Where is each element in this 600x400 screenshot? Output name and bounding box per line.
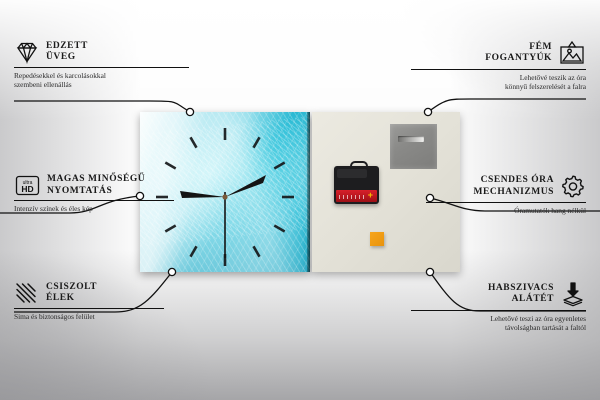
foam-pad-icon xyxy=(560,281,586,307)
callout-csendes-ora-mechanizmus[interactable]: CSENDES ÓRA MECHANIZMUS Óramutatók hang … xyxy=(426,174,586,215)
minute-hand xyxy=(225,175,266,197)
svg-text:HD: HD xyxy=(21,184,33,194)
callout-subtitle-line2: szembeni ellenállás xyxy=(14,80,189,89)
battery-label xyxy=(339,195,365,199)
callout-subtitle-line1: Sima és biztonságos felület xyxy=(14,312,164,321)
callout-title-line2: NYOMTATÁS xyxy=(47,186,145,198)
ultra-hd-icon: ultra HD xyxy=(14,174,41,197)
callout-magas-minosegu-nyomtatas[interactable]: ultra HD MAGAS MINŐSÉGŰ NYOMTATÁS Intenz… xyxy=(14,174,174,213)
background-vignette-bottom-left xyxy=(0,250,220,400)
beveled-edge-icon xyxy=(14,281,40,305)
callout-title-block: CSENDES ÓRA MECHANIZMUS xyxy=(474,175,554,198)
product-image: + xyxy=(140,112,460,272)
callout-divider xyxy=(14,67,189,68)
callout-title-block: MAGAS MINŐSÉGŰ NYOMTATÁS xyxy=(47,174,145,197)
clock-hands xyxy=(180,175,266,258)
callout-title-line1: EDZETT xyxy=(46,41,88,53)
infographic-canvas: + xyxy=(0,0,600,400)
battery: + xyxy=(336,190,377,202)
callout-subtitle: Repedésekkel és karcolásokkal szembeni e… xyxy=(14,71,189,89)
callout-divider xyxy=(14,200,174,201)
glass-edge xyxy=(307,112,310,272)
callout-subtitle-line2: távolságban tartását a faltól xyxy=(411,323,586,332)
callout-title-line1: HABSZIVACS xyxy=(488,283,554,295)
picture-hanger-icon xyxy=(558,40,586,66)
callout-header: CSENDES ÓRA MECHANIZMUS xyxy=(426,174,586,199)
quartz-mechanism: + xyxy=(334,166,379,204)
callout-title-block: HABSZIVACS ALÁTÉT xyxy=(488,283,554,306)
callout-header: EDZETT ÜVEG xyxy=(14,40,189,64)
callout-divider xyxy=(14,308,164,309)
callout-header: CSISZOLT ÉLEK xyxy=(14,281,164,305)
callout-title-block: FÉM FOGANTYÚK xyxy=(485,42,552,65)
callout-subtitle-line2: könnyű felszerelését a falra xyxy=(411,82,586,91)
callout-title-line2: FOGANTYÚK xyxy=(485,53,552,65)
callout-title-line2: MECHANIZMUS xyxy=(474,187,554,199)
foam-spacer xyxy=(370,232,384,246)
callout-subtitle: Lehetővé teszik az óra könnyű felszerelé… xyxy=(411,73,586,91)
callout-subtitle: Lehetővé teszi az óra egyenletes távolsá… xyxy=(411,314,586,332)
callout-header: ultra HD MAGAS MINŐSÉGŰ NYOMTATÁS xyxy=(14,174,174,197)
callout-title-block: EDZETT ÜVEG xyxy=(46,41,88,64)
callout-subtitle: Sima és biztonságos felület xyxy=(14,312,164,321)
callout-title-line2: ÉLEK xyxy=(46,293,97,305)
callout-divider xyxy=(411,69,586,70)
callout-title-line1: CSENDES ÓRA xyxy=(481,175,554,187)
callout-subtitle-line1: Lehetővé teszi az óra egyenletes xyxy=(411,314,586,323)
callout-header: FÉM FOGANTYÚK xyxy=(411,40,586,66)
battery-plus-label: + xyxy=(368,191,373,200)
callout-csiszolt-elek[interactable]: CSISZOLT ÉLEK Sima és biztonságos felüle… xyxy=(14,281,164,321)
callout-title-block: CSISZOLT ÉLEK xyxy=(46,282,97,305)
callout-subtitle-line1: Intenzív színek és éles kép xyxy=(14,204,174,213)
callout-title-line1: MAGAS MINŐSÉGŰ xyxy=(47,174,145,186)
callout-subtitle-line1: Lehetővé teszik az óra xyxy=(411,73,586,82)
diamond-icon xyxy=(14,40,40,64)
gear-icon xyxy=(560,174,586,199)
hour-hand xyxy=(180,191,225,198)
clock-center-cap xyxy=(222,194,227,199)
callout-subtitle-line1: Repedésekkel és karcolásokkal xyxy=(14,71,189,80)
mechanism-housing xyxy=(337,169,367,178)
callout-title-line2: ALÁTÉT xyxy=(512,294,554,306)
callout-subtitle-line1: Óramutatók hang nélkül xyxy=(426,206,586,215)
callout-divider xyxy=(426,202,586,203)
callout-title-line1: FÉM xyxy=(529,42,552,54)
hanger-slot xyxy=(398,136,424,142)
callout-title-line2: ÜVEG xyxy=(46,52,88,64)
callout-edzett-uveg[interactable]: EDZETT ÜVEG Repedésekkel és karcolásokka… xyxy=(14,40,189,89)
metal-hanger-icon xyxy=(390,124,437,169)
callout-title-line1: CSISZOLT xyxy=(46,282,97,294)
callout-fem-fogantyuk[interactable]: FÉM FOGANTYÚK Lehetővé teszik az óra kön… xyxy=(411,40,586,91)
callout-divider xyxy=(411,310,586,311)
callout-subtitle: Intenzív színek és éles kép xyxy=(14,204,174,213)
callout-habszivacs-alatet[interactable]: HABSZIVACS ALÁTÉT Lehetővé teszi az óra … xyxy=(411,281,586,332)
callout-header: HABSZIVACS ALÁTÉT xyxy=(411,281,586,307)
callout-subtitle: Óramutatók hang nélkül xyxy=(426,206,586,215)
